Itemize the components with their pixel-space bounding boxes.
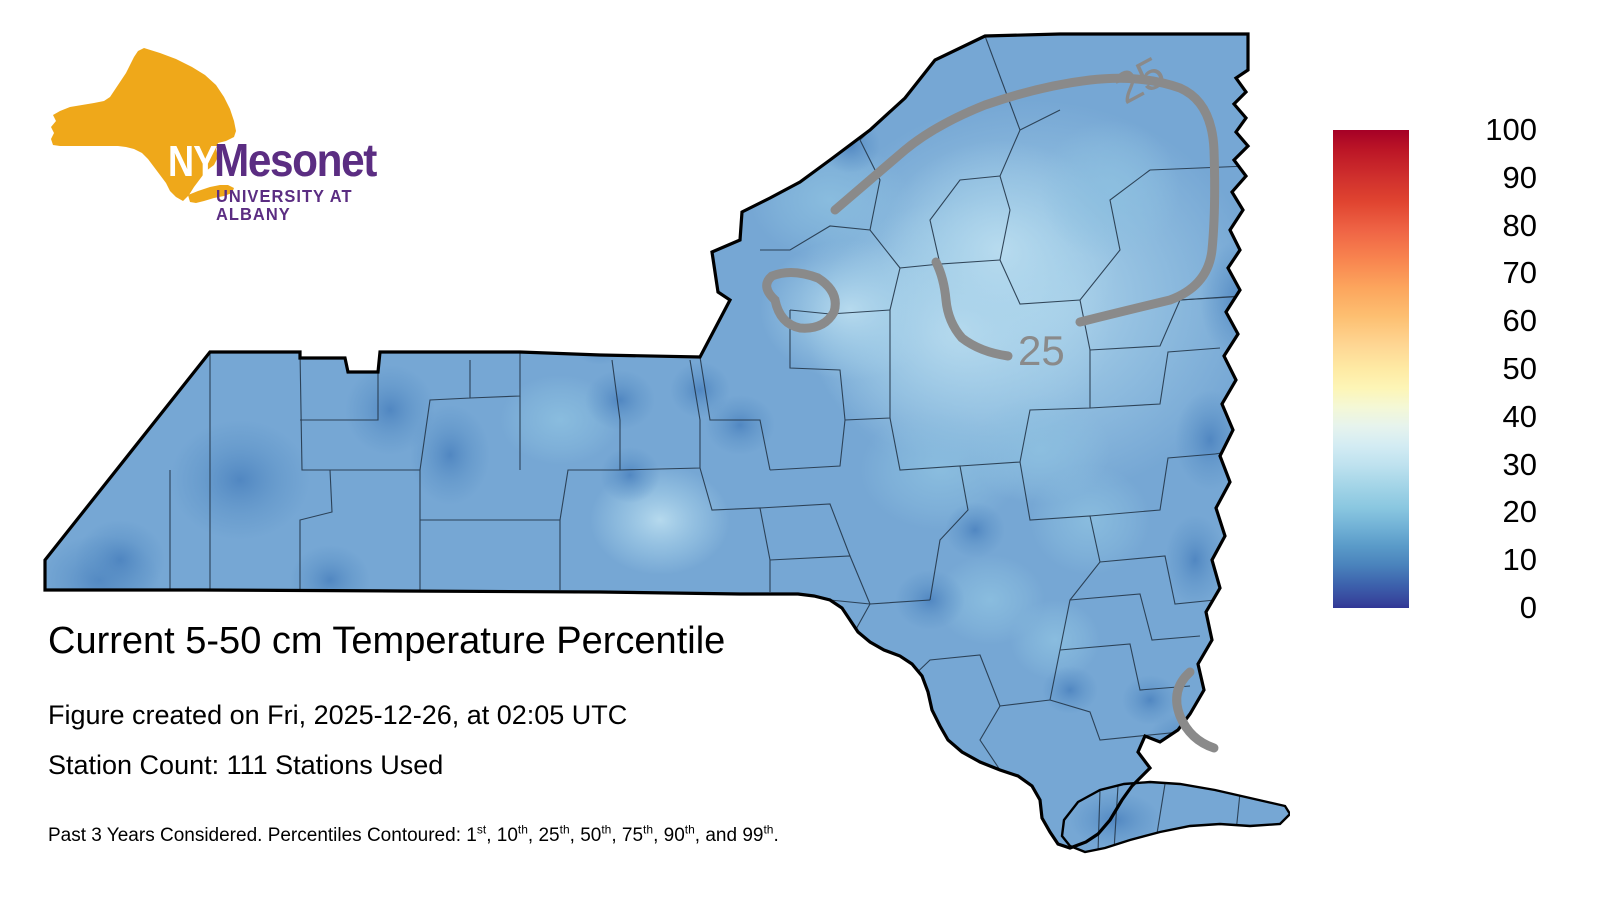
colorbar-tick-60: 60 <box>1419 305 1537 336</box>
colorbar-tick-0: 0 <box>1419 592 1537 623</box>
colorbar-tick-50: 50 <box>1419 353 1537 384</box>
footnote-ordinal-75: th <box>643 823 653 837</box>
colorbar-tick-30: 30 <box>1419 449 1537 480</box>
colorbar-tick-70: 70 <box>1419 257 1537 288</box>
footnote-ordinal-50: th <box>601 823 611 837</box>
footnote-ordinal-1: st <box>477 823 486 837</box>
colorbar-tick-20: 20 <box>1419 496 1537 527</box>
footnote-percentile-1: 1 <box>466 825 477 846</box>
footnote-separator: , <box>486 825 497 846</box>
percentile-footnote: Past 3 Years Considered. Percentiles Con… <box>48 826 779 845</box>
logo-mesonet-text: Mesonet <box>214 137 376 183</box>
footnote-percentile-90: 90 <box>664 825 685 846</box>
colorbar-tick-80: 80 <box>1419 210 1537 241</box>
colorbar-tick-labels: 1009080706050403020100 <box>1419 130 1569 608</box>
contour-label-25-south: 25 <box>1018 327 1065 374</box>
footnote-ordinal-10: th <box>518 823 528 837</box>
station-count: Station Count: 111 Stations Used <box>48 752 443 779</box>
footnote-separator: , <box>695 825 706 846</box>
colorbar-tick-10: 10 <box>1419 544 1537 575</box>
colorbar-gradient <box>1333 130 1409 608</box>
logo-university-text: UNIVERSITY AT ALBANY <box>216 188 396 223</box>
colorbar-tick-100: 100 <box>1419 114 1537 145</box>
footnote-lead: Past 3 Years Considered. Percentiles Con… <box>48 825 466 846</box>
page-title: Current 5-50 cm Temperature Percentile <box>48 622 725 660</box>
footnote-separator: , <box>528 825 539 846</box>
creation-timestamp: Figure created on Fri, 2025-12-26, at 02… <box>48 702 627 729</box>
footnote-conjunction: and <box>705 825 742 846</box>
footnote-ordinal-25: th <box>560 823 570 837</box>
footnote-ordinal-99: th <box>763 823 773 837</box>
footnote-percentile-75: 75 <box>622 825 643 846</box>
footnote-percentile-10: 10 <box>497 825 518 846</box>
nys-mesonet-logo: NYS Mesonet UNIVERSITY AT ALBANY <box>48 45 408 210</box>
footnote-separator: , <box>653 825 664 846</box>
footnote-separator: , <box>570 825 581 846</box>
footnote-ordinal-90: th <box>685 823 695 837</box>
footnote-percentile-50: 50 <box>580 825 601 846</box>
colorbar-tick-40: 40 <box>1419 401 1537 432</box>
footnote-separator: , <box>611 825 622 846</box>
footnote-percentile-99: 99 <box>742 825 763 846</box>
percentile-colorbar: 1009080706050403020100 <box>1333 130 1573 610</box>
colorbar-tick-90: 90 <box>1419 162 1537 193</box>
footnote-terminator: . <box>773 825 778 846</box>
footnote-percentile-25: 25 <box>538 825 559 846</box>
